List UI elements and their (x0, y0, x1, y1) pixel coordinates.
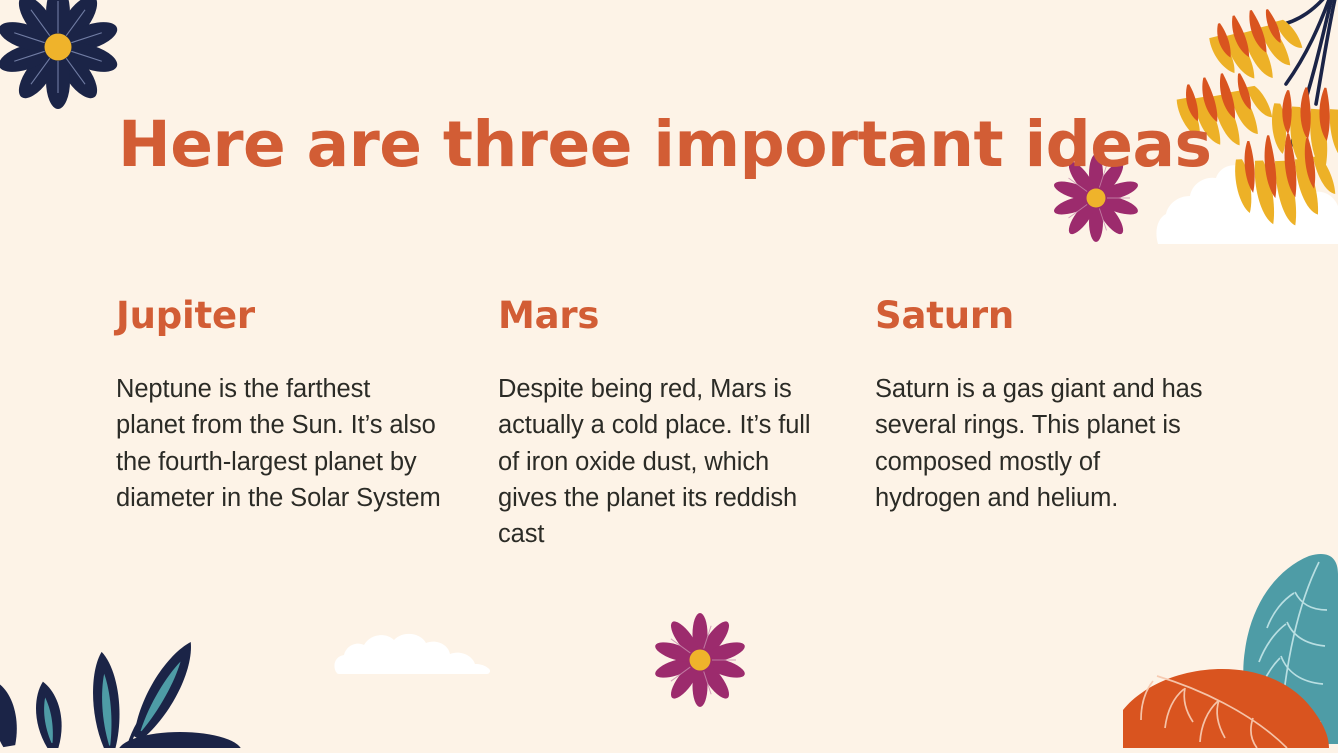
idea-heading-saturn: Saturn (875, 296, 1257, 337)
teal-orange-leaves-icon (1123, 548, 1338, 753)
idea-columns: Jupiter Neptune is the farthest planet f… (116, 296, 1236, 553)
idea-heading-mars: Mars (498, 296, 875, 337)
navy-daisy-flower-icon (0, 0, 126, 119)
page-title: Here are three important ideas (118, 112, 1212, 178)
idea-body-jupiter: Neptune is the farthest planet from the … (116, 371, 446, 517)
orange-leaf (1123, 669, 1329, 748)
slide-canvas: Here are three important ideas Jupiter N… (0, 0, 1338, 753)
magenta-daisy-flower-icon-bottom (652, 612, 748, 713)
idea-body-mars: Despite being red, Mars is actually a co… (498, 371, 818, 553)
idea-body-saturn: Saturn is a gas giant and has several ri… (875, 371, 1205, 517)
idea-column-saturn: Saturn Saturn is a gas giant and has sev… (875, 296, 1257, 516)
idea-column-jupiter: Jupiter Neptune is the farthest planet f… (116, 296, 498, 516)
idea-column-mars: Mars Despite being red, Mars is actually… (498, 296, 875, 553)
cloud-icon-bottom (330, 630, 500, 681)
navy-leaves-plant-icon (0, 608, 250, 753)
idea-heading-jupiter: Jupiter (116, 296, 498, 337)
teal-leaf (1243, 554, 1338, 744)
